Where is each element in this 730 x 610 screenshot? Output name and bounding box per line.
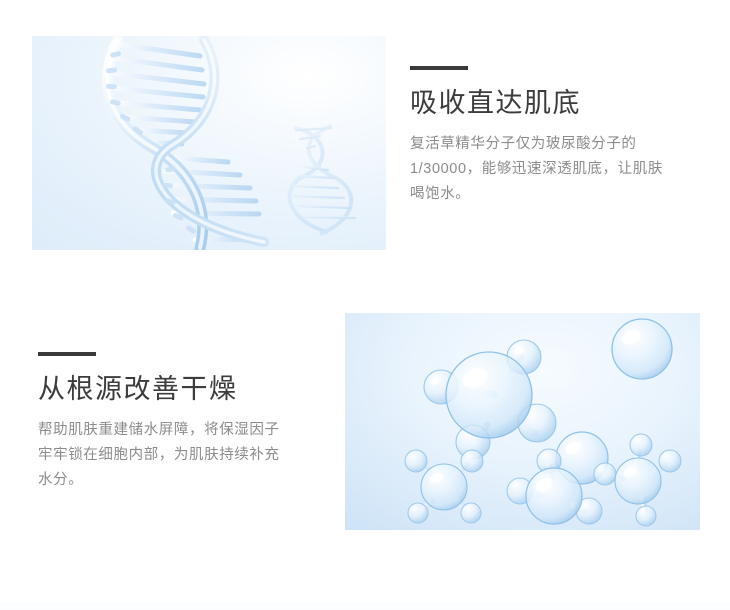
section-absorb-body-line-2: 1/30000，能够迅速深透肌底，让肌肤 bbox=[410, 157, 710, 182]
molecule-bottom-right bbox=[594, 434, 681, 526]
section-dryness: 从根源改善干燥 帮助肌肤重建储水屏障，将保湿因子 牢牢锁在细胞内部，为肌肤持续补… bbox=[38, 352, 338, 493]
dna-helix-photo bbox=[32, 36, 386, 250]
section-dryness-body-line-3: 水分。 bbox=[38, 468, 338, 493]
section-dryness-body-line-1: 帮助肌肤重建储水屏障，将保湿因子 bbox=[38, 418, 338, 443]
section-divider-rule bbox=[38, 352, 96, 356]
product-detail-page: 吸收直达肌底 复活草精华分子仅为玻尿酸分子的 1/30000，能够迅速深透肌底，… bbox=[0, 0, 730, 610]
section-dryness-heading: 从根源改善干燥 bbox=[38, 374, 338, 405]
section-absorb-body-line-3: 喝饱水。 bbox=[410, 182, 710, 207]
page-bottom-band bbox=[0, 602, 730, 610]
section-divider-rule bbox=[410, 66, 468, 70]
section-dryness-body-line-2: 牢牢锁在细胞内部，为肌肤持续补充 bbox=[38, 443, 338, 468]
dna-helix-small bbox=[290, 126, 355, 234]
molecule-bottom-left bbox=[405, 450, 483, 523]
section-dryness-body: 帮助肌肤重建储水屏障，将保湿因子 牢牢锁在细胞内部，为肌肤持续补充 水分。 bbox=[38, 418, 338, 493]
section-absorb-body-line-1: 复活草精华分子仅为玻尿酸分子的 bbox=[410, 132, 710, 157]
section-absorb-heading: 吸收直达肌底 bbox=[410, 88, 710, 119]
molecule-bubble-top-right bbox=[612, 319, 672, 379]
water-molecule-photo bbox=[345, 313, 700, 530]
section-absorb: 吸收直达肌底 复活草精华分子仅为玻尿酸分子的 1/30000，能够迅速深透肌底，… bbox=[410, 66, 710, 207]
molecule-large bbox=[424, 340, 556, 459]
section-absorb-body: 复活草精华分子仅为玻尿酸分子的 1/30000，能够迅速深透肌底，让肌肤 喝饱水… bbox=[410, 132, 710, 207]
